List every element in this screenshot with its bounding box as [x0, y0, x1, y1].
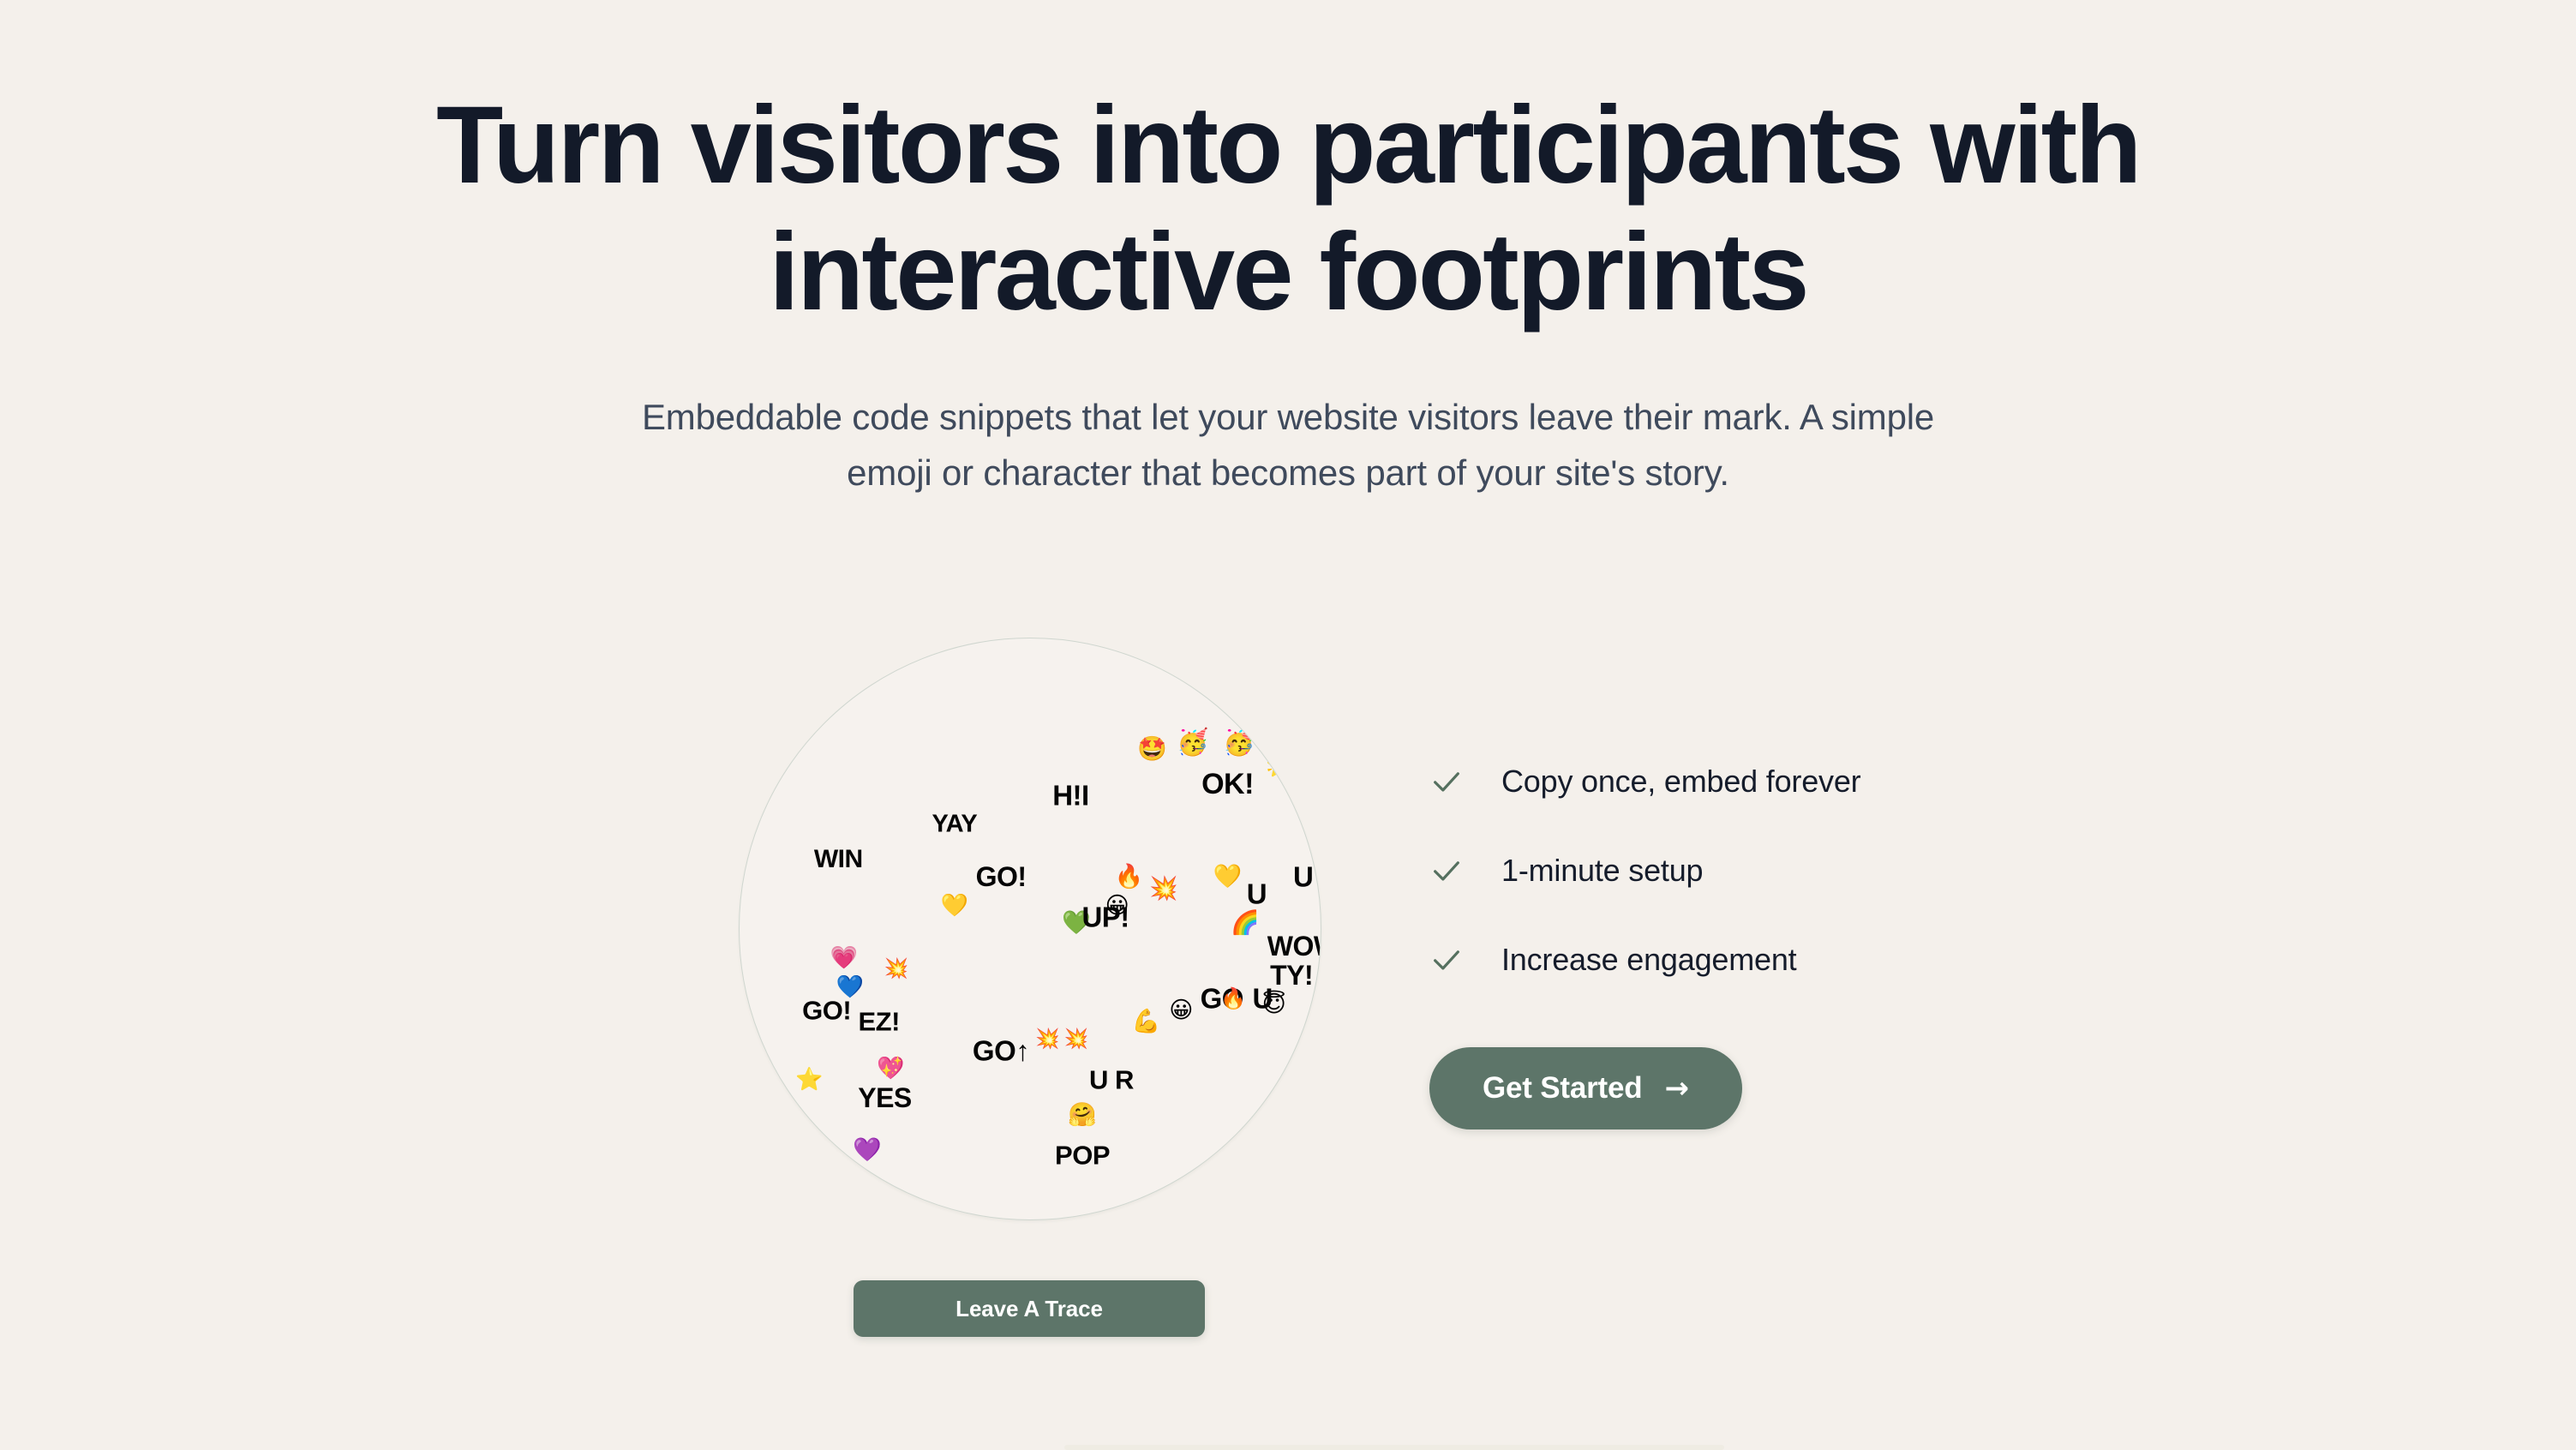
check-icon [1429, 854, 1464, 888]
trace-emoji: 💜 [853, 1138, 882, 1161]
leave-a-trace-button[interactable]: Leave A Trace [854, 1280, 1205, 1337]
trace-word: UP! [1081, 903, 1129, 932]
check-icon [1429, 764, 1464, 799]
trace-emoji: 😀 [1169, 998, 1193, 1022]
feature-label: Copy once, embed forever [1501, 764, 1860, 800]
feature-column: Copy once, embed forever 1-minute setup … [1429, 763, 2286, 1129]
trace-word: H!I [1052, 782, 1089, 810]
trace-word: GO! [802, 997, 851, 1023]
trace-word: U [1253, 985, 1273, 1013]
arrow-right-icon: → [1664, 1074, 1688, 1103]
trace-emoji: 🥳 [1223, 730, 1255, 756]
feature-label: 1-minute setup [1501, 853, 1703, 889]
trace-circle-canvas[interactable]: YAYH!I🤩🥳🥳OK!🌟WINGO!💛🔥😀💥💛UU💚UP!🌈WOWTY!💗💙💥… [739, 638, 1321, 1220]
trace-word: EZ! [859, 1009, 900, 1035]
feature-label: Increase engagement [1501, 942, 1796, 978]
trace-word: GO! [976, 863, 1027, 890]
trace-emoji: ⭐ [795, 1069, 823, 1091]
trace-word: YES [858, 1084, 912, 1111]
feature-item: Increase engagement [1429, 941, 2286, 979]
trace-emoji: 🥳 [1177, 730, 1208, 756]
hero-subtitle: Embeddable code snippets that let your w… [615, 390, 1961, 500]
trace-emoji: 💥 [1149, 877, 1178, 900]
trace-circle-wrap: YAYH!I🤩🥳🥳OK!🌟WINGO!💛🔥😀💥💛UU💚UP!🌈WOWTY!💗💙💥… [739, 638, 1321, 1220]
get-started-button[interactable]: Get Started → [1429, 1047, 1742, 1129]
trace-emoji: 💛 [941, 895, 968, 917]
trace-word: UP↑ [789, 1141, 842, 1170]
trace-word: WOW [1267, 932, 1321, 960]
trace-emoji: 🔥 [1114, 865, 1143, 888]
get-started-label: Get Started [1483, 1071, 1642, 1105]
trace-emoji: 💗 [830, 947, 858, 969]
trace-word: YAY [932, 812, 977, 836]
feature-item: 1-minute setup [1429, 852, 2286, 890]
feature-item: Copy once, embed forever [1429, 763, 2286, 800]
trace-emoji: 🌈 [1231, 912, 1260, 935]
trace-word: WIN [814, 847, 863, 872]
check-icon [1429, 943, 1464, 977]
trace-emoji: 🤩 [1137, 737, 1167, 761]
trace-word: U R [1089, 1067, 1134, 1093]
trace-emoji: 💥 [1064, 1029, 1089, 1049]
trace-word: POP [1055, 1142, 1110, 1169]
trace-emoji: 🌟 [1266, 755, 1293, 777]
trace-word: U [1247, 880, 1267, 908]
trace-emoji: 🤗 [1068, 1103, 1097, 1126]
trace-emoji: 💥 [1035, 1029, 1060, 1049]
trace-emoji: 💛 [1213, 865, 1243, 888]
hero-section: Turn visitors into participants with int… [0, 82, 2576, 500]
trace-emoji: 🔥 [1220, 988, 1246, 1009]
trace-word: OK! [1201, 770, 1254, 799]
landing-page: Turn visitors into participants with int… [0, 0, 2576, 1450]
trace-emoji: 💥 [884, 960, 909, 980]
trace-emoji: 💖 [877, 1058, 904, 1080]
bottom-band [1064, 1445, 1724, 1450]
page-title: Turn visitors into participants with int… [285, 82, 2291, 337]
trace-word: GO↑ [973, 1037, 1029, 1065]
trace-emoji: 💪 [1132, 1010, 1161, 1034]
trace-word: TY! [1270, 962, 1313, 989]
trace-word: U [1293, 862, 1313, 890]
